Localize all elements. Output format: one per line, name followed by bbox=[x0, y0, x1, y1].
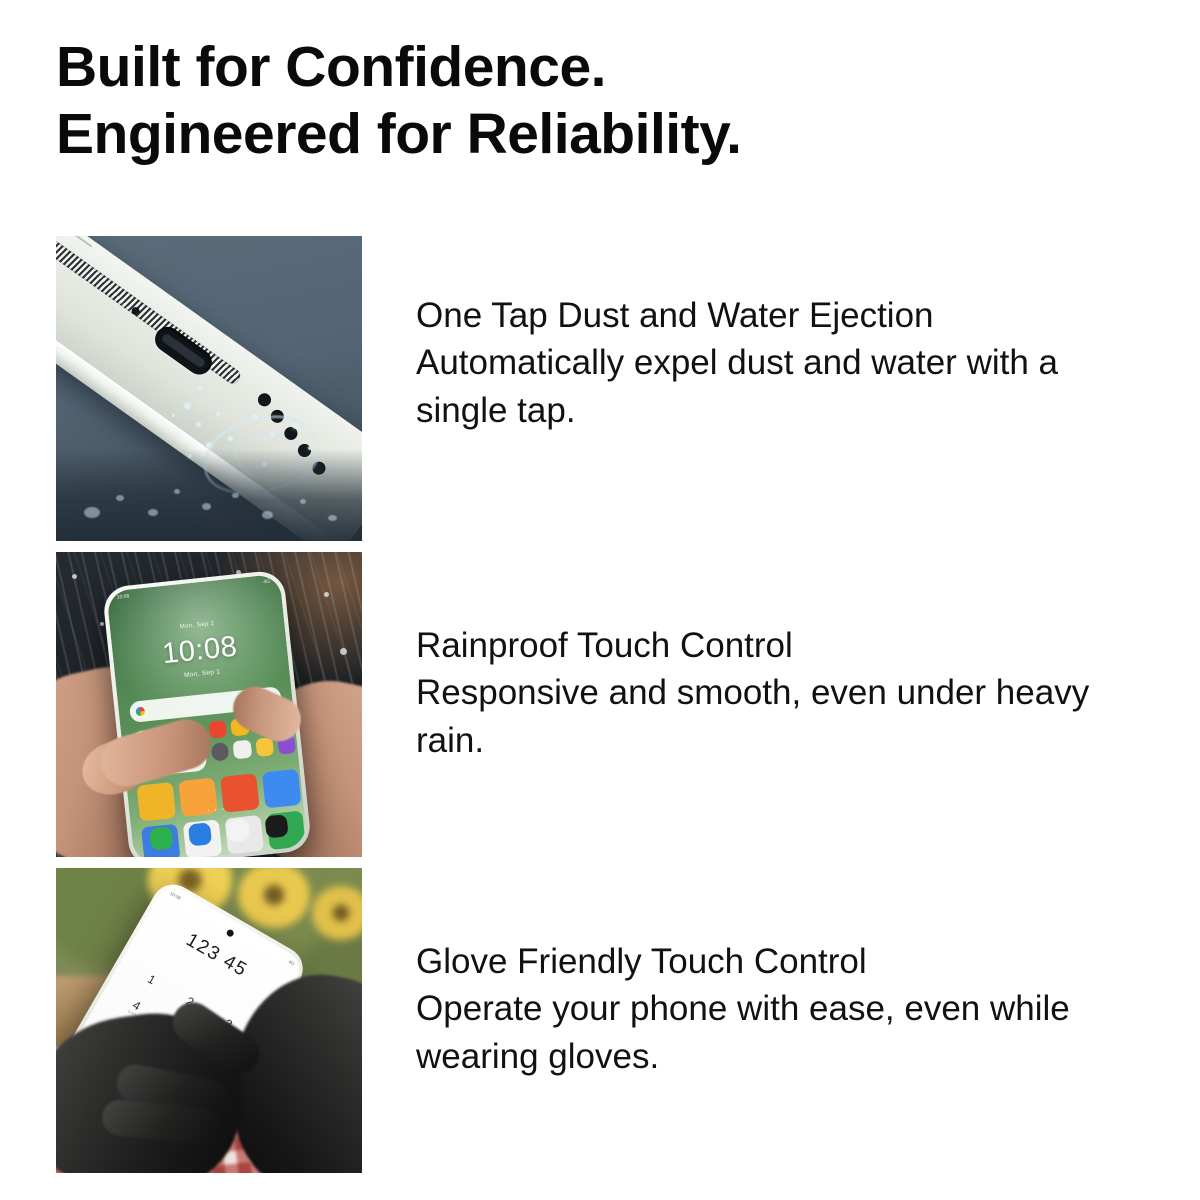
browser-app-icon[interactable] bbox=[226, 818, 250, 842]
feature-item-dust-water-ejection: One Tap Dust and Water Ejection Automati… bbox=[0, 236, 1200, 552]
feature-description: Responsive and smooth, even under heavy … bbox=[416, 669, 1116, 764]
status-network: 4G bbox=[263, 579, 270, 586]
feature-copy-rainproof-touch: Rainproof Touch Control Responsive and s… bbox=[416, 622, 1116, 764]
keypad-key-letters bbox=[129, 975, 167, 997]
feature-list: One Tap Dust and Water Ejection Automati… bbox=[0, 236, 1200, 1184]
phone-app-icon[interactable] bbox=[149, 826, 173, 850]
glove-touch-illustration: 10:08 4G 123 45 1 2ABC 3DEF 4GHI 5JKL bbox=[56, 868, 362, 1173]
status-network: 4G bbox=[285, 959, 295, 971]
feature-description: Automatically expel dust and water with … bbox=[416, 339, 1116, 434]
app-icon[interactable] bbox=[255, 738, 274, 757]
feature-title: Glove Friendly Touch Control bbox=[416, 938, 1116, 985]
headline-line-1: Built for Confidence. bbox=[56, 34, 1116, 101]
page-title: Built for Confidence. Engineered for Rel… bbox=[56, 34, 1116, 169]
feature-copy-dust-water-ejection: One Tap Dust and Water Ejection Automati… bbox=[416, 292, 1116, 434]
feature-copy-glove-friendly-touch: Glove Friendly Touch Control Operate you… bbox=[416, 938, 1116, 1080]
app-icon[interactable] bbox=[208, 720, 227, 739]
feature-image-glove-friendly-touch: 10:08 4G 123 45 1 2ABC 3DEF 4GHI 5JKL bbox=[56, 868, 362, 1173]
camera-app-icon[interactable] bbox=[264, 814, 288, 838]
feature-page: Built for Confidence. Engineered for Rel… bbox=[0, 0, 1200, 1200]
status-time: 10:08 bbox=[117, 593, 130, 600]
feature-title: Rainproof Touch Control bbox=[416, 622, 1116, 669]
app-icon[interactable] bbox=[211, 742, 230, 761]
google-logo-icon bbox=[135, 706, 145, 716]
feature-description: Operate your phone with ease, even while… bbox=[416, 985, 1116, 1080]
dust-ejection-illustration bbox=[56, 236, 362, 541]
feature-title: One Tap Dust and Water Ejection bbox=[416, 292, 1116, 339]
feature-image-dust-water-ejection bbox=[56, 236, 362, 541]
messages-app-icon[interactable] bbox=[188, 822, 212, 846]
status-time: 10:08 bbox=[167, 890, 182, 904]
rainproof-illustration: 10:08 4G Mon, Sep 1 10:08 Mon, Sep 1 bbox=[56, 552, 362, 857]
feature-image-rainproof-touch: 10:08 4G Mon, Sep 1 10:08 Mon, Sep 1 bbox=[56, 552, 362, 857]
sunflower-blur bbox=[312, 886, 362, 940]
app-icon[interactable] bbox=[233, 740, 252, 759]
headline-line-2: Engineered for Reliability. bbox=[56, 101, 1116, 168]
feature-item-rainproof-touch: 10:08 4G Mon, Sep 1 10:08 Mon, Sep 1 bbox=[0, 552, 1200, 868]
speaker-hole-icon bbox=[255, 391, 273, 409]
water-surface bbox=[56, 449, 362, 541]
feature-item-glove-friendly-touch: 10:08 4G 123 45 1 2ABC 3DEF 4GHI 5JKL bbox=[0, 868, 1200, 1184]
